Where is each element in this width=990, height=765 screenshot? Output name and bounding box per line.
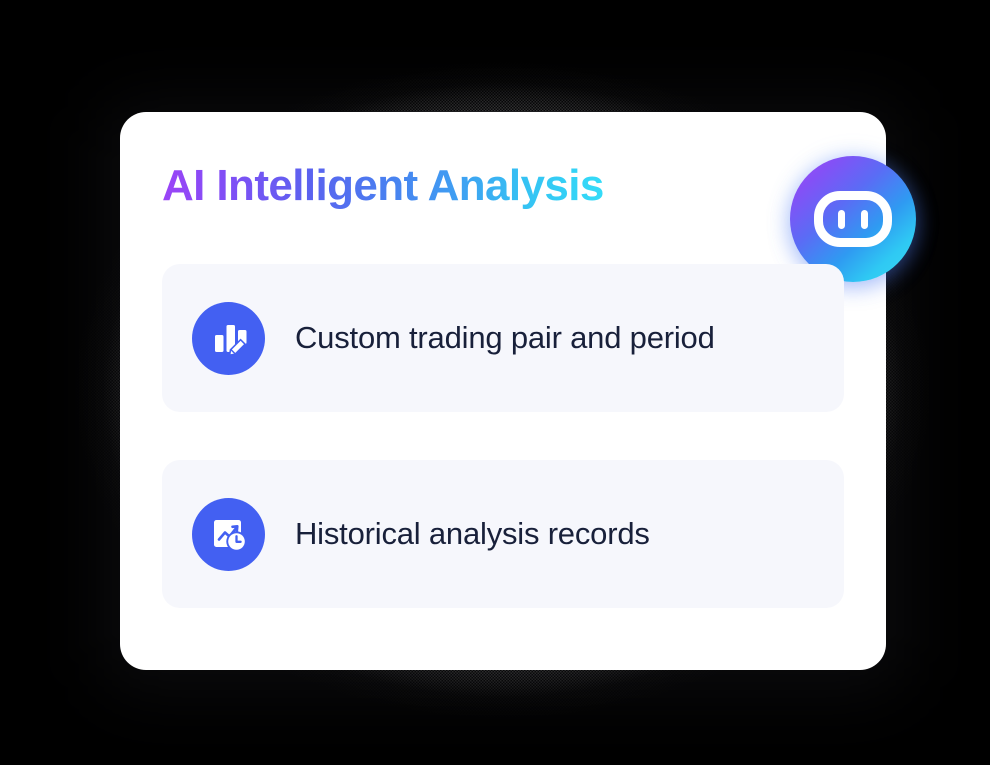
- robot-face: [814, 191, 892, 247]
- bar-chart-edit-icon: [192, 302, 265, 375]
- feature-item-custom-trading-pair[interactable]: Custom trading pair and period: [162, 264, 844, 412]
- screenshot-stage: AI Intelligent Analysis: [0, 0, 990, 765]
- robot-left-eye-icon: [838, 210, 845, 229]
- feature-item-historical-records[interactable]: Historical analysis records: [162, 460, 844, 608]
- outer-frame: AI Intelligent Analysis: [8, 8, 982, 757]
- page-title: AI Intelligent Analysis: [162, 161, 604, 211]
- ai-analysis-card: AI Intelligent Analysis: [120, 112, 886, 670]
- robot-right-eye-icon: [861, 210, 868, 229]
- chart-history-clock-icon: [192, 498, 265, 571]
- feature-label: Custom trading pair and period: [295, 320, 715, 356]
- feature-label: Historical analysis records: [295, 516, 650, 552]
